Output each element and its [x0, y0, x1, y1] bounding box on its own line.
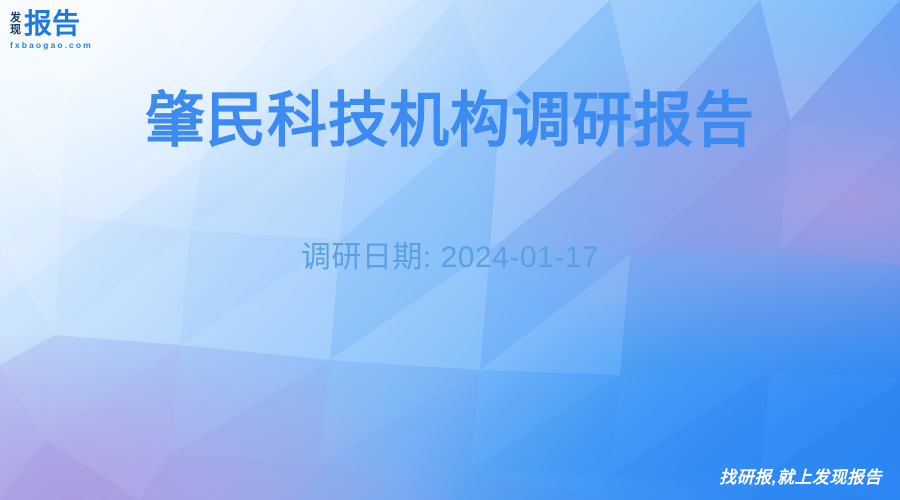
logo-wordmark: 报告: [24, 10, 80, 38]
report-cover: 发 现 报告 fxbaogao.com 肇民科技机构调研报告 调研日期: 202…: [0, 0, 900, 500]
survey-date-subtitle: 调研日期: 2024-01-17: [0, 232, 900, 276]
logo-mark-bottom: 现: [10, 25, 21, 36]
logo-row: 发 现 报告: [10, 10, 80, 38]
site-logo[interactable]: 发 现 报告 fxbaogao.com: [10, 10, 93, 50]
logo-mark-top: 发: [10, 13, 21, 24]
logo-mark: 发 现: [10, 12, 21, 35]
page-title: 肇民科技机构调研报告: [0, 88, 900, 154]
footer-slogan: 找研报,就上发现报告: [719, 463, 882, 488]
logo-url: fxbaogao.com: [10, 40, 93, 50]
